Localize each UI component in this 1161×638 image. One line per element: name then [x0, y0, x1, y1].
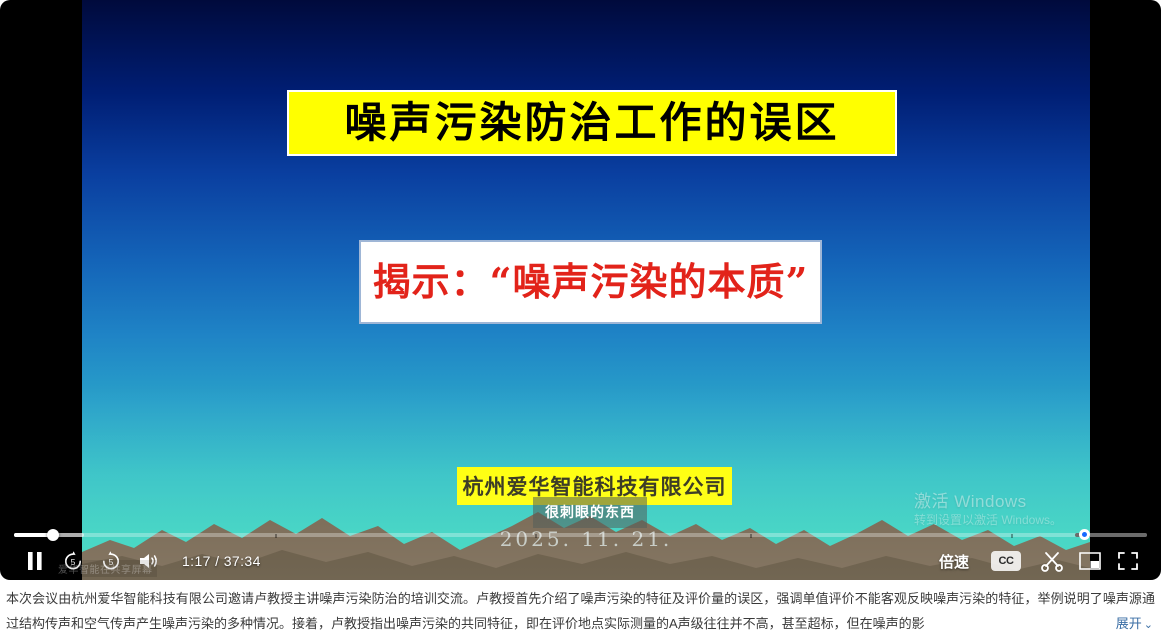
closed-captions-button[interactable]: CC [991, 551, 1021, 571]
slide-subtitle-box: 揭示：“噪声污染的本质” [359, 240, 822, 324]
chapter-marker[interactable] [750, 534, 752, 538]
video-frame[interactable]: 噪声污染防治工作的误区 揭示：“噪声污染的本质” 杭州爱华智能科技有限公司 20… [82, 0, 1090, 580]
chapter-marker[interactable] [535, 534, 537, 538]
expand-description-label: 展开 [1116, 616, 1142, 631]
progress-bar-row [0, 532, 1161, 538]
fullscreen-button[interactable] [1109, 544, 1147, 578]
player-controls-right: 倍速 CC [929, 544, 1161, 578]
volume-slider-thumb[interactable] [1079, 529, 1090, 540]
player-controls-left: 5 5 1:17 / 37:34 爱华智能在共享屏幕 [0, 544, 261, 578]
chapter-marker[interactable] [1011, 534, 1013, 538]
clip-button[interactable] [1033, 544, 1071, 578]
video-caption-overlay: 很刺眼的东西 [533, 497, 647, 528]
picture-in-picture-button[interactable] [1071, 544, 1109, 578]
seek-bar-thumb[interactable] [47, 529, 59, 541]
expand-description-button[interactable]: 展开⌄ [1106, 611, 1153, 638]
chapter-marker[interactable] [275, 534, 277, 538]
chevron-down-icon: ⌄ [1144, 619, 1153, 631]
slide-subtitle-text: 揭示：“噪声污染的本质” [373, 263, 809, 301]
video-description-text: 本次会议由杭州爱华智能科技有限公司邀请卢教授主讲噪声污染防治的培训交流。卢教授首… [6, 586, 1155, 636]
screen-share-watermark: 爱华智能在共享屏幕 [54, 560, 157, 577]
slide-company-text: 杭州爱华智能科技有限公司 [463, 476, 727, 497]
playback-speed-button[interactable]: 倍速 [929, 551, 979, 572]
slide-title-text: 噪声污染防治工作的误区 [344, 102, 839, 144]
picture-in-picture-icon [1078, 551, 1102, 571]
presentation-slide: 噪声污染防治工作的误区 揭示：“噪声污染的本质” 杭州爱华智能科技有限公司 20… [82, 0, 1090, 580]
player-control-bar: 5 5 1:17 / 37:34 爱华智能在共享屏幕 [0, 542, 1161, 580]
video-description: 本次会议由杭州爱华智能科技有限公司邀请卢教授主讲噪声污染防治的培训交流。卢教授首… [0, 586, 1161, 637]
pause-icon [27, 552, 43, 570]
scissors-icon [1040, 550, 1064, 572]
seek-bar[interactable] [14, 533, 1147, 537]
fullscreen-icon [1117, 551, 1139, 571]
time-display: 1:17 / 37:34 [182, 553, 261, 569]
pause-button[interactable] [16, 544, 54, 578]
video-player[interactable]: 噪声污染防治工作的误区 揭示：“噪声污染的本质” 杭州爱华智能科技有限公司 20… [0, 0, 1161, 580]
volume-slider[interactable] [1075, 530, 1147, 540]
slide-title-box: 噪声污染防治工作的误区 [287, 90, 897, 156]
